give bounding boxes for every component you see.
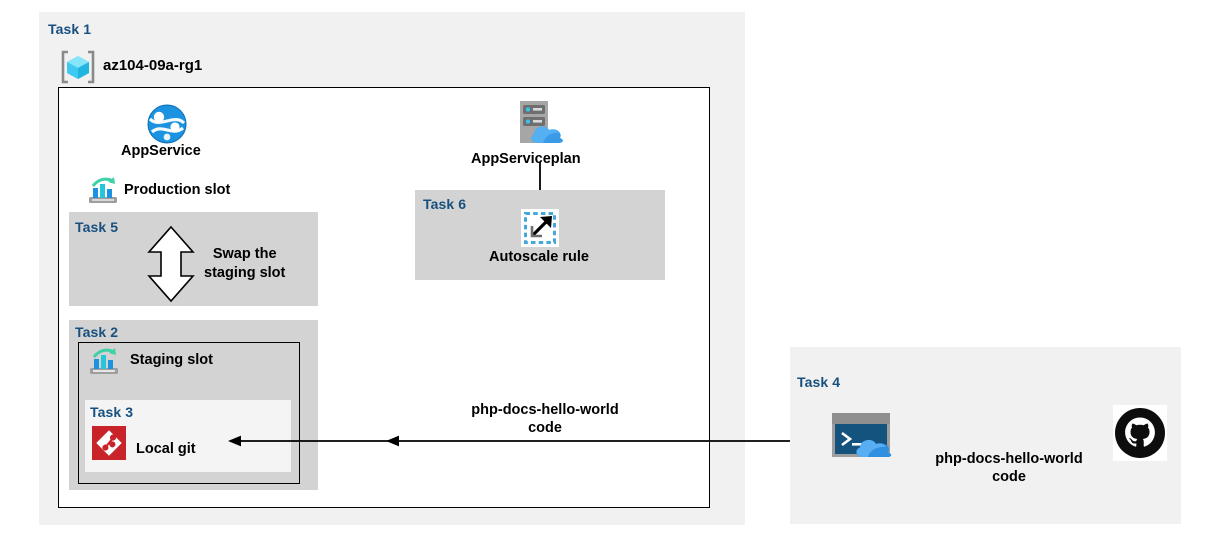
task5-text: Swap the staging slot [204,245,285,283]
center-code-label-line1: php-docs-hello-world [471,402,618,418]
task5-label: Task 5 [75,219,118,235]
resource-group-cube-icon [60,50,96,84]
staging-slot-label: Staging slot [130,351,213,369]
local-git-label: Local git [136,440,196,458]
task4-code-label-line1: php-docs-hello-world [935,451,1082,467]
task3-label: Task 3 [90,404,133,420]
task1-label: Task 1 [48,21,91,37]
task4-code-label: php-docs-hello-world code [926,450,1092,486]
appserviceplan-server-cloud-icon [512,99,574,147]
autoscale-rule-label: Autoscale rule [489,248,589,266]
deployment-slot-chart-icon [89,348,119,376]
task4-label: Task 4 [797,374,840,390]
deployment-slot-chart-icon [88,177,118,205]
autoscale-rule-icon [521,209,559,247]
appservice-globe-icon [146,103,188,145]
cloud-shell-icon [832,413,904,463]
task2-label: Task 2 [75,324,118,340]
task5-text-line2: staging slot [204,265,285,281]
appservice-label: AppService [121,142,201,160]
double-headed-vertical-arrow-icon [146,226,196,302]
production-slot-label: Production slot [124,181,230,199]
appserviceplan-label: AppServiceplan [471,150,581,168]
github-octocat-icon [1113,405,1167,461]
resource-group-name: az104-09a-rg1 [103,57,202,76]
git-logo-icon [92,426,126,460]
task4-code-label-line2: code [992,469,1026,485]
task5-text-line1: Swap the [213,246,277,262]
diagram-canvas: Task 1 az104-09a-rg1 AppService [0,0,1218,545]
task6-label: Task 6 [423,196,466,212]
